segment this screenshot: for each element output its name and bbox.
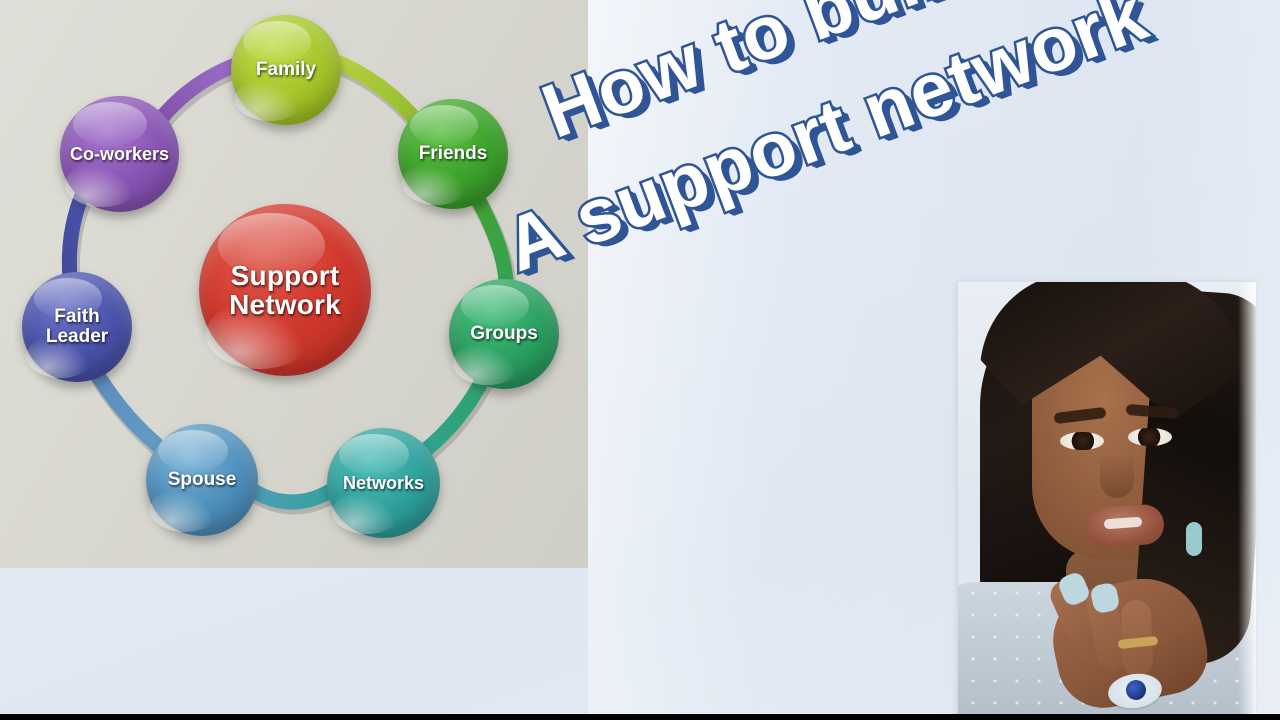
node-faith-leader[interactable]: Faith Leader	[22, 272, 132, 382]
node-label: Spouse	[164, 470, 241, 490]
node-co-workers[interactable]: Co-workers	[60, 96, 179, 212]
node-label: Groups	[466, 324, 542, 344]
node-groups[interactable]: Groups	[449, 279, 559, 389]
node-spouse[interactable]: Spouse	[146, 424, 258, 536]
node-family[interactable]: Family	[231, 15, 341, 125]
support-network-diagram: Family Friends Groups Networks Spouse	[0, 0, 588, 568]
headline-line-1: How to build	[531, 0, 994, 156]
photo-edge-fade	[1238, 282, 1256, 720]
center-label-line1: Support	[231, 260, 340, 291]
presenter-photo	[958, 282, 1256, 720]
eye-left	[1060, 432, 1104, 450]
node-friends[interactable]: Friends	[398, 99, 508, 209]
headline-line-2: A support network	[494, 0, 1159, 289]
node-support-network-center[interactable]: Support Network	[199, 204, 371, 376]
node-gloss	[158, 430, 227, 473]
letterbox-bottom	[0, 714, 1280, 720]
earring	[1186, 522, 1202, 556]
center-label-line2: Network	[229, 289, 341, 320]
node-gloss	[461, 285, 529, 327]
node-label: Faith Leader	[42, 307, 112, 347]
node-label: Family	[252, 60, 320, 80]
node-networks[interactable]: Networks	[327, 428, 440, 538]
node-label: Friends	[415, 144, 492, 164]
nose	[1100, 454, 1134, 498]
node-label: Co-workers	[66, 145, 173, 164]
node-label-line2: Leader	[46, 326, 108, 347]
node-gloss	[73, 102, 147, 146]
node-gloss	[410, 105, 478, 147]
eye-right	[1128, 428, 1172, 446]
node-label: Networks	[339, 474, 428, 493]
center-label: Support Network	[225, 261, 345, 320]
node-gloss	[339, 434, 409, 476]
node-label-line1: Faith	[54, 306, 99, 327]
thumbnail-canvas: Family Friends Groups Networks Spouse	[0, 0, 1280, 720]
node-gloss	[243, 21, 311, 63]
